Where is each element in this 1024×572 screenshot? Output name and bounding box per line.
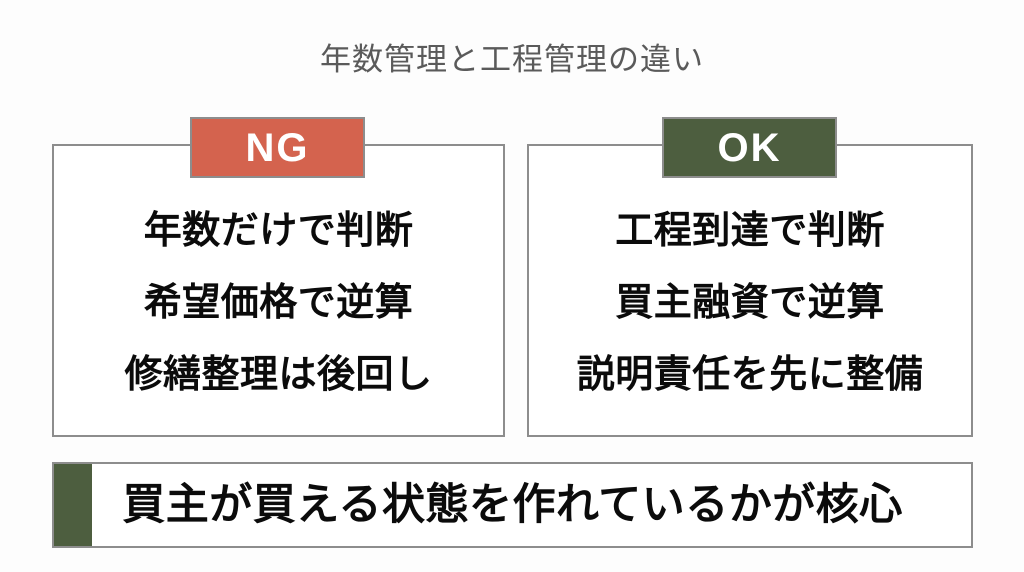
badge-ok: OK: [662, 117, 837, 178]
badge-ng: NG: [190, 117, 365, 178]
card-ng-body: 年数だけで判断 希望価格で逆算 修繕整理は後回し: [54, 208, 503, 399]
page-title: 年数管理と工程管理の違い: [0, 40, 1024, 80]
conclusion-text: 買主が買える状態を作れているかが核心: [92, 480, 971, 530]
card-ok-line-1: 工程到達で判断: [615, 208, 885, 255]
comparison-card-ok: 工程到達で判断 買主融資で逆算 説明責任を先に整備: [527, 144, 973, 437]
card-ok-line-3: 説明責任を先に整備: [577, 352, 924, 399]
comparison-card-ng: 年数だけで判断 希望価格で逆算 修繕整理は後回し: [52, 144, 505, 437]
card-ok-body: 工程到達で判断 買主融資で逆算 説明責任を先に整備: [529, 208, 971, 399]
card-ng-line-1: 年数だけで判断: [144, 208, 414, 255]
slide-canvas: 年数管理と工程管理の違い 年数だけで判断 希望価格で逆算 修繕整理は後回し 工程…: [0, 0, 1024, 572]
card-ng-line-3: 修繕整理は後回し: [124, 352, 432, 399]
conclusion-banner: 買主が買える状態を作れているかが核心: [52, 462, 973, 548]
card-ng-line-2: 希望価格で逆算: [144, 280, 414, 327]
card-ok-line-2: 買主融資で逆算: [615, 280, 885, 327]
banner-accent-bar: [54, 464, 92, 546]
